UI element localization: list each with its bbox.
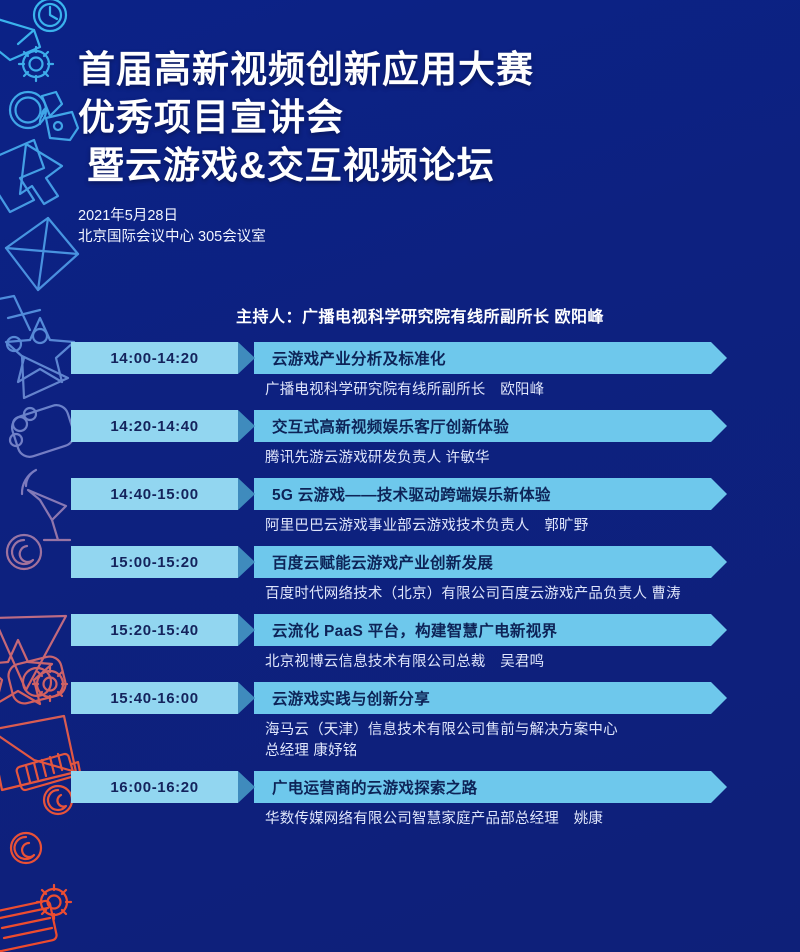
- page-title-line-2: 优秀项目宣讲会: [78, 94, 778, 141]
- schedule-title: 云游戏产业分析及标准化: [272, 347, 446, 369]
- schedule-time: 14:40-15:00: [110, 486, 198, 503]
- schedule-speaker: 百度时代网络技术（北京）有限公司百度云游戏产品负责人 曹涛: [265, 584, 745, 605]
- schedule-bar: 14:20-14:40 交互式高新视频娱乐客厅创新体验: [71, 410, 727, 442]
- page-title-line-1: 首届高新视频创新应用大赛: [78, 46, 778, 93]
- schedule-title-block: 云游戏实践与创新分享: [254, 682, 727, 714]
- schedule-title: 云流化 PaaS 平台，构建智慧广电新视界: [272, 619, 557, 641]
- schedule-row: 15:00-15:20 百度云赋能云游戏产业创新发展 百度时代网络技术（北京）有…: [0, 546, 800, 605]
- schedule-row: 14:20-14:40 交互式高新视频娱乐客厅创新体验 腾讯先游云游戏研发负责人…: [0, 410, 800, 469]
- schedule-title-block: 云游戏产业分析及标准化: [254, 342, 727, 374]
- chevron-right-icon: [238, 546, 255, 578]
- schedule-row: 15:40-16:00 云游戏实践与创新分享 海马云（天津）信息技术有限公司售前…: [0, 682, 800, 762]
- schedule-bar: 14:00-14:20 云游戏产业分析及标准化: [71, 342, 727, 374]
- schedule-speaker-line-1: 阿里巴巴云游戏事业部云游戏技术负责人 郭旷野: [265, 516, 745, 537]
- schedule-time-block: 14:20-14:40: [71, 410, 238, 442]
- gear-icon: [19, 47, 53, 81]
- schedule-speaker-line-1: 百度时代网络技术（北京）有限公司百度云游戏产品负责人 曹涛: [265, 584, 745, 605]
- chevron-right-icon: [238, 410, 255, 442]
- schedule-time-block: 14:40-15:00: [71, 478, 238, 510]
- diamond-icon: [6, 218, 78, 290]
- event-meta: 2021年5月28日 北京国际会议中心 305会议室: [78, 206, 778, 248]
- host-line: 主持人：广播电视科学研究院有线所副所长 欧阳峰: [0, 303, 800, 327]
- schedule-time: 15:40-16:00: [110, 690, 198, 707]
- schedule-title: 百度云赋能云游戏产业创新发展: [272, 551, 493, 573]
- poster-root: 首届高新视频创新应用大赛 优秀项目宣讲会 暨云游戏&交互视频论坛 2021年5月…: [0, 0, 800, 952]
- chevron-right-icon: [238, 614, 255, 646]
- schedule-speaker: 阿里巴巴云游戏事业部云游戏技术负责人 郭旷野: [265, 516, 745, 537]
- magnifier-icon: [10, 92, 62, 128]
- schedule-list: 14:00-14:20 云游戏产业分析及标准化 广播电视科学研究院有线所副所长 …: [0, 342, 800, 839]
- header: 首届高新视频创新应用大赛 优秀项目宣讲会 暨云游戏&交互视频论坛 2021年5月…: [78, 46, 778, 248]
- schedule-title: 交互式高新视频娱乐客厅创新体验: [272, 415, 509, 437]
- schedule-bar: 15:40-16:00 云游戏实践与创新分享: [71, 682, 727, 714]
- schedule-speaker-line-1: 北京视博云信息技术有限公司总裁 吴君鸣: [265, 652, 745, 673]
- schedule-speaker: 腾讯先游云游戏研发负责人 许敏华: [265, 448, 745, 469]
- event-venue: 北京国际会议中心 305会议室: [78, 227, 778, 248]
- schedule-time-block: 14:00-14:20: [71, 342, 238, 374]
- schedule-time-block: 15:00-15:20: [71, 546, 238, 578]
- arrow-outline-icon: [20, 144, 62, 204]
- schedule-title: 广电运营商的云游戏探索之路: [272, 776, 477, 798]
- schedule-speaker: 海马云（天津）信息技术有限公司售前与解决方案中心 总经理 康妤铭: [265, 720, 745, 762]
- event-date: 2021年5月28日: [78, 206, 778, 227]
- schedule-row: 14:00-14:20 云游戏产业分析及标准化 广播电视科学研究院有线所副所长 …: [0, 342, 800, 401]
- schedule-time: 16:00-16:20: [110, 779, 198, 796]
- schedule-bar: 15:00-15:20 百度云赋能云游戏产业创新发展: [71, 546, 727, 578]
- page-title-line-3: 暨云游戏&交互视频论坛: [87, 142, 778, 189]
- schedule-speaker: 华数传媒网络有限公司智慧家庭产品部总经理 姚康: [265, 809, 745, 830]
- schedule-title-block: 广电运营商的云游戏探索之路: [254, 771, 727, 803]
- schedule-speaker-line-1: 华数传媒网络有限公司智慧家庭产品部总经理 姚康: [265, 809, 745, 830]
- schedule-time-block: 16:00-16:20: [71, 771, 238, 803]
- clock-icon: [34, 0, 66, 31]
- schedule-title-block: 百度云赋能云游戏产业创新发展: [254, 546, 727, 578]
- schedule-speaker-line-1: 海马云（天津）信息技术有限公司售前与解决方案中心: [265, 720, 745, 741]
- schedule-title-block: 5G 云游戏——技术驱动跨端娱乐新体验: [254, 478, 727, 510]
- keyboard-icon: [0, 900, 57, 952]
- schedule-speaker: 广播电视科学研究院有线所副所长 欧阳峰: [265, 380, 745, 401]
- schedule-row: 14:40-15:00 5G 云游戏——技术驱动跨端娱乐新体验 阿里巴巴云游戏事…: [0, 478, 800, 537]
- schedule-title: 云游戏实践与创新分享: [272, 687, 430, 709]
- arrow-icon: [0, 140, 44, 212]
- schedule-row: 16:00-16:20 广电运营商的云游戏探索之路 华数传媒网络有限公司智慧家庭…: [0, 771, 800, 830]
- host-text: 主持人：广播电视科学研究院有线所副所长 欧阳峰: [196, 303, 604, 327]
- schedule-time-block: 15:40-16:00: [71, 682, 238, 714]
- schedule-speaker-line-1: 广播电视科学研究院有线所副所长 欧阳峰: [265, 380, 745, 401]
- schedule-bar: 16:00-16:20 广电运营商的云游戏探索之路: [71, 771, 727, 803]
- chevron-right-icon: [238, 771, 255, 803]
- schedule-bar: 14:40-15:00 5G 云游戏——技术驱动跨端娱乐新体验: [71, 478, 727, 510]
- schedule-time: 14:00-14:20: [110, 350, 198, 367]
- schedule-title-block: 交互式高新视频娱乐客厅创新体验: [254, 410, 727, 442]
- chevron-right-icon: [238, 682, 255, 714]
- schedule-time: 14:20-14:40: [110, 418, 198, 435]
- vr-headset-icon: [40, 108, 78, 140]
- schedule-title: 5G 云游戏——技术驱动跨端娱乐新体验: [272, 483, 551, 505]
- schedule-time: 15:00-15:20: [110, 554, 198, 571]
- chevron-right-icon: [238, 342, 255, 374]
- schedule-bar: 15:20-15:40 云流化 PaaS 平台，构建智慧广电新视界: [71, 614, 727, 646]
- schedule-row: 15:20-15:40 云流化 PaaS 平台，构建智慧广电新视界 北京视博云信…: [0, 614, 800, 673]
- schedule-title-block: 云流化 PaaS 平台，构建智慧广电新视界: [254, 614, 727, 646]
- schedule-time-block: 15:20-15:40: [71, 614, 238, 646]
- schedule-speaker-line-2: 总经理 康妤铭: [265, 741, 745, 762]
- chevron-right-icon: [238, 478, 255, 510]
- megaphone-icon: [0, 18, 40, 60]
- gear-icon-3: [37, 885, 71, 919]
- schedule-time: 15:20-15:40: [110, 622, 198, 639]
- schedule-speaker: 北京视博云信息技术有限公司总裁 吴君鸣: [265, 652, 745, 673]
- schedule-speaker-line-1: 腾讯先游云游戏研发负责人 许敏华: [265, 448, 745, 469]
